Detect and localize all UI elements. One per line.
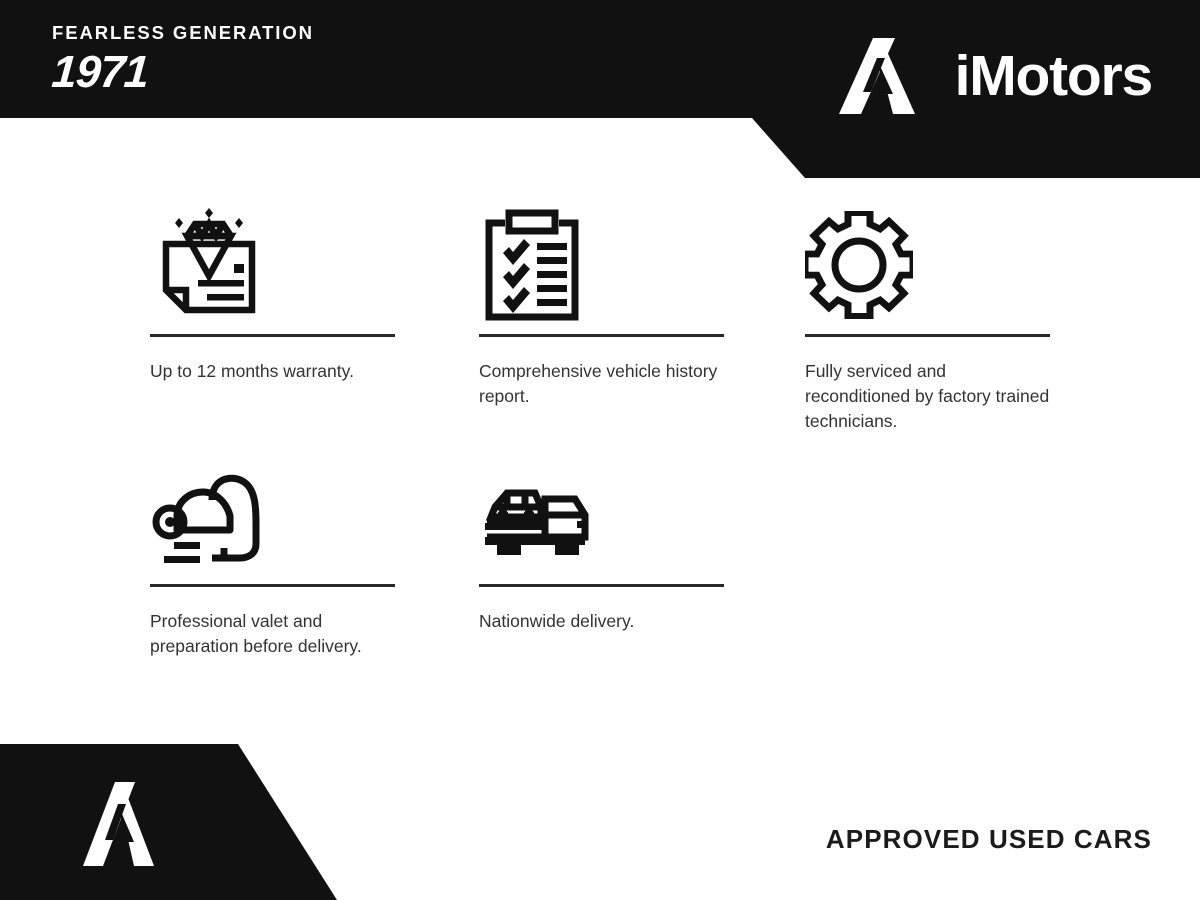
feature-warranty-rule: [150, 334, 395, 337]
header-tagline: FEARLESS GENERATION: [52, 24, 314, 43]
feature-valet: Professional valet and preparation befor…: [150, 462, 395, 659]
clipboard-checklist-icon: [479, 207, 585, 323]
feature-history-report-icon-wrap: [479, 200, 724, 330]
feature-delivery-text: Nationwide delivery.: [479, 609, 724, 634]
brand-name: iMotors: [955, 48, 1152, 105]
established-year: 1971: [50, 49, 315, 94]
imotors-chevron-logo-icon: [837, 36, 933, 116]
feature-history-report: Comprehensive vehicle history report.: [479, 200, 724, 409]
feature-delivery-icon-wrap: [479, 462, 724, 580]
feature-delivery-rule: [479, 584, 724, 587]
feature-valet-icon-wrap: [150, 462, 395, 580]
imotors-chevron-logo-icon: [80, 780, 172, 868]
brand-logo[interactable]: iMotors: [837, 36, 1152, 116]
fearless-generation-block: FEARLESS GENERATION 1971: [52, 24, 314, 94]
feature-valet-rule: [150, 584, 395, 587]
footer-tagline: APPROVED USED CARS: [826, 826, 1152, 852]
feature-warranty-icon-wrap: [150, 200, 395, 330]
gear-icon: [805, 211, 913, 319]
feature-valet-text: Professional valet and preparation befor…: [150, 609, 395, 659]
feature-servicing-rule: [805, 334, 1050, 337]
feature-warranty-text: Up to 12 months warranty.: [150, 359, 395, 384]
feature-delivery: Nationwide delivery.: [479, 462, 724, 634]
vacuum-cleaner-icon: [150, 470, 268, 572]
car-transporter-truck-icon: [479, 479, 591, 563]
feature-history-report-rule: [479, 334, 724, 337]
diamond-certificate-icon: [150, 206, 268, 324]
feature-warranty: Up to 12 months warranty.: [150, 200, 395, 384]
feature-servicing-text: Fully serviced and reconditioned by fact…: [805, 359, 1055, 434]
footer-black-shape: [0, 744, 360, 900]
feature-servicing-icon-wrap: [805, 200, 1050, 330]
feature-history-report-text: Comprehensive vehicle history report.: [479, 359, 724, 409]
feature-servicing: Fully serviced and reconditioned by fact…: [805, 200, 1050, 434]
promo-banner: FEARLESS GENERATION 1971 iMotors: [0, 0, 1200, 900]
